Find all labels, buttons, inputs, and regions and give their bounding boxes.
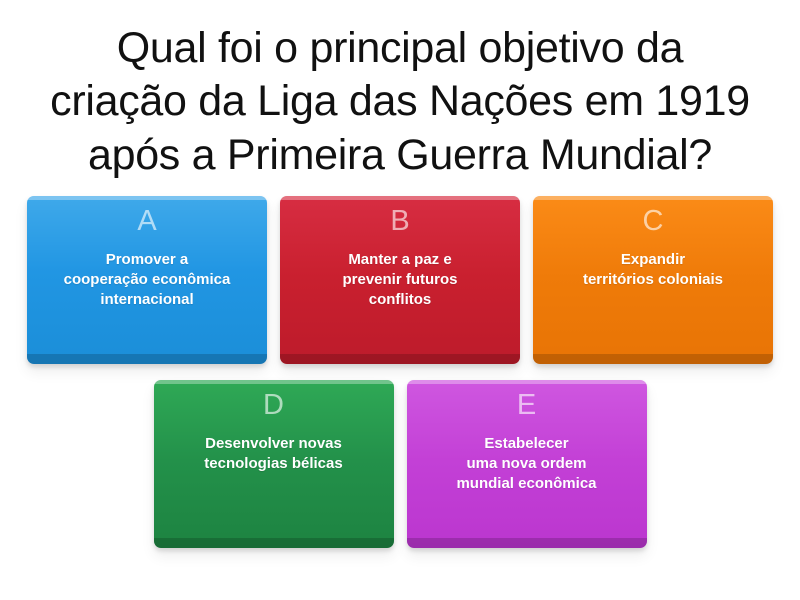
answer-card-b[interactable]: B Manter a paz e prevenir futuros confli… bbox=[280, 196, 520, 364]
question-area: Qual foi o principal objetivo da criação… bbox=[5, 0, 795, 182]
question-text: Qual foi o principal objetivo da criação… bbox=[5, 22, 795, 182]
answer-text-d: Desenvolver novas tecnologias bélicas bbox=[167, 434, 381, 474]
answer-letter-d: D bbox=[263, 391, 284, 420]
answer-card-d[interactable]: D Desenvolver novas tecnologias bélicas bbox=[154, 380, 394, 548]
answer-letter-a: A bbox=[137, 207, 156, 236]
answer-letter-e: E bbox=[517, 391, 536, 420]
answer-card-a[interactable]: A Promover a cooperação econômica intern… bbox=[27, 196, 267, 364]
answer-letter-c: C bbox=[643, 207, 664, 236]
answer-letter-b: B bbox=[390, 207, 409, 236]
answer-text-b: Manter a paz e prevenir futuros conflito… bbox=[293, 250, 507, 309]
answer-text-e: Estabelecer uma nova ordem mundial econô… bbox=[420, 434, 634, 493]
answer-card-e[interactable]: E Estabelecer uma nova ordem mundial eco… bbox=[407, 380, 647, 548]
quiz-container: Qual foi o principal objetivo da criação… bbox=[0, 0, 800, 600]
answer-card-c[interactable]: C Expandir territórios coloniais bbox=[533, 196, 773, 364]
answer-row-bottom: D Desenvolver novas tecnologias bélicas … bbox=[154, 380, 647, 548]
answer-text-c: Expandir territórios coloniais bbox=[546, 250, 760, 290]
answer-row-top: A Promover a cooperação econômica intern… bbox=[27, 196, 773, 364]
answer-text-a: Promover a cooperação econômica internac… bbox=[40, 250, 254, 309]
answer-options-grid: A Promover a cooperação econômica intern… bbox=[0, 196, 800, 548]
